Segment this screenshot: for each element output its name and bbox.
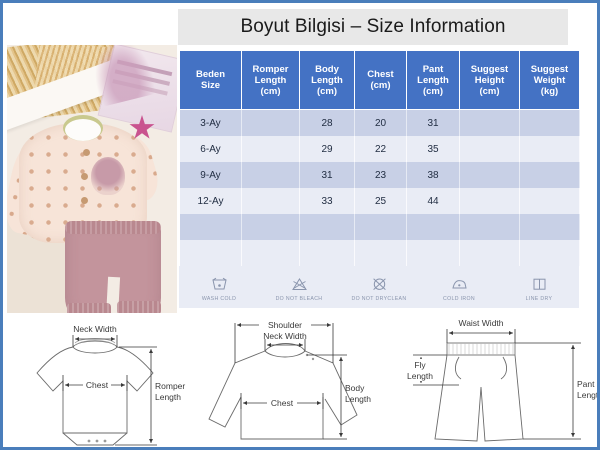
cell-pant-length: 31	[407, 110, 460, 137]
label-neck-width: Neck Width	[73, 324, 117, 334]
label-romper-length-line1: Romper	[155, 381, 185, 391]
line-dry-icon	[531, 275, 548, 294]
cell-chest: 23	[355, 162, 407, 188]
label-fly-length-line1: Fly	[414, 360, 426, 370]
shirt-diagram: Shoulder Neck Width Chest	[207, 315, 401, 449]
cell-suggest-height	[460, 110, 520, 137]
label-romper-length-line2: Length	[155, 392, 181, 402]
cell-suggest-weight	[520, 162, 580, 188]
care-label: DO NOT DRYCLEAN	[352, 296, 407, 302]
size-table-wrapper: Beden Size Romper Length (cm) Body Lengt…	[179, 50, 579, 308]
cell-pant-length: 35	[407, 136, 460, 162]
cell-body-length: 33	[300, 188, 355, 214]
cell-suggest-weight	[520, 136, 580, 162]
cell-beden-size	[180, 214, 242, 240]
cell-suggest-height	[460, 188, 520, 214]
cell-beden-size: 3-Ay	[180, 110, 242, 137]
cell-beden-size	[180, 240, 242, 266]
cell-beden-size: 9-Ay	[180, 162, 242, 188]
label-chest: Chest	[86, 380, 109, 390]
column-header-body-length: Body Length (cm)	[300, 51, 355, 110]
photo-button	[81, 173, 88, 180]
cell-pant-length	[407, 214, 460, 240]
cell-beden-size: 6-Ay	[180, 136, 242, 162]
cell-romper-length	[242, 188, 300, 214]
cell-romper-length	[242, 136, 300, 162]
care-label: WASH COLD	[202, 296, 236, 302]
wash-cold-icon	[211, 275, 228, 294]
cell-romper-length	[242, 162, 300, 188]
photo-button	[81, 197, 88, 204]
photo-pants-cuff-right	[117, 301, 161, 313]
photo-collar-inner	[65, 119, 101, 141]
care-label: DO NOT BLEACH	[276, 296, 323, 302]
cell-suggest-weight	[520, 110, 580, 137]
cell-chest: 22	[355, 136, 407, 162]
table-row: 12-Ay 33 25 44	[180, 188, 580, 214]
care-symbols-row: WASH COLD DO NOT BLEACH	[179, 266, 579, 308]
label-chest: Chest	[271, 398, 294, 408]
cell-suggest-weight	[520, 188, 580, 214]
label-body-length-line1: Body	[345, 383, 365, 393]
pants-diagram: Waist Width Fly Length Pa	[403, 315, 599, 449]
column-header-chest: Chest (cm)	[355, 51, 407, 110]
cell-romper-length	[242, 214, 300, 240]
cell-suggest-height	[460, 136, 520, 162]
table-row: 3-Ay 28 20 31	[180, 110, 580, 137]
cell-suggest-weight	[520, 240, 580, 266]
care-symbol-do-not-dryclean: DO NOT DRYCLEAN	[339, 275, 419, 302]
photo-bear-print	[91, 157, 125, 195]
cell-body-length	[300, 240, 355, 266]
cell-pant-length	[407, 240, 460, 266]
cell-suggest-height	[460, 162, 520, 188]
cold-iron-icon	[451, 275, 468, 294]
label-pant-length-line2: Length	[577, 390, 599, 400]
table-row	[180, 214, 580, 240]
do-not-bleach-icon	[291, 275, 308, 294]
table-header-row: Beden Size Romper Length (cm) Body Lengt…	[180, 51, 580, 110]
cell-chest: 25	[355, 188, 407, 214]
table-row: 9-Ay 31 23 38	[180, 162, 580, 188]
cell-suggest-weight	[520, 214, 580, 240]
cell-romper-length	[242, 240, 300, 266]
care-symbol-line-dry: LINE DRY	[499, 275, 579, 302]
label-shoulder: Shoulder	[268, 320, 302, 330]
cell-chest	[355, 240, 407, 266]
label-fly-length-line2: Length	[407, 371, 433, 381]
cell-body-length: 31	[300, 162, 355, 188]
cell-body-length: 29	[300, 136, 355, 162]
cell-pant-length: 38	[407, 162, 460, 188]
size-table-body: 3-Ay 28 20 31 6-Ay 29 22 35	[180, 110, 580, 267]
care-symbol-do-not-bleach: DO NOT BLEACH	[259, 275, 339, 302]
cell-suggest-height	[460, 214, 520, 240]
care-symbol-cold-iron: COLD IRON	[419, 275, 499, 302]
column-header-pant-length: Pant Length (cm)	[407, 51, 460, 110]
cell-chest	[355, 214, 407, 240]
column-header-romper-length: Romper Length (cm)	[242, 51, 300, 110]
photo-button	[83, 149, 90, 156]
table-row	[180, 240, 580, 266]
cell-body-length	[300, 214, 355, 240]
care-label: LINE DRY	[526, 296, 553, 302]
do-not-dryclean-icon	[371, 275, 388, 294]
table-row: 6-Ay 29 22 35	[180, 136, 580, 162]
label-body-length-line2: Length	[345, 394, 371, 404]
cell-beden-size: 12-Ay	[180, 188, 242, 214]
photo-pants-cuff-left	[67, 303, 111, 313]
cell-body-length: 28	[300, 110, 355, 137]
cell-pant-length: 44	[407, 188, 460, 214]
label-pant-length-line1: Pant	[577, 379, 595, 389]
cell-romper-length	[242, 110, 300, 137]
label-neck-width: Neck Width	[263, 331, 307, 341]
size-chart-page: Boyut Bilgisi – Size Information	[0, 0, 600, 450]
cell-suggest-height	[460, 240, 520, 266]
page-title: Boyut Bilgisi – Size Information	[240, 16, 505, 38]
romper-diagram: Neck Width Chest Romper L	[9, 315, 205, 449]
label-waist-width: Waist Width	[458, 318, 503, 328]
care-symbol-wash-cold: WASH COLD	[179, 275, 259, 302]
photo-pants-waistband	[65, 221, 161, 234]
measurement-diagrams: Neck Width Chest Romper L	[3, 315, 600, 450]
cell-chest: 20	[355, 110, 407, 137]
column-header-beden-size: Beden Size	[180, 51, 242, 110]
column-header-suggest-weight: Suggest Weight (kg)	[520, 51, 580, 110]
title-bar: Boyut Bilgisi – Size Information	[178, 9, 568, 45]
column-header-suggest-height: Suggest Height (cm)	[460, 51, 520, 110]
care-label: COLD IRON	[443, 296, 475, 302]
product-photo	[7, 45, 177, 313]
size-table: Beden Size Romper Length (cm) Body Lengt…	[179, 50, 580, 266]
